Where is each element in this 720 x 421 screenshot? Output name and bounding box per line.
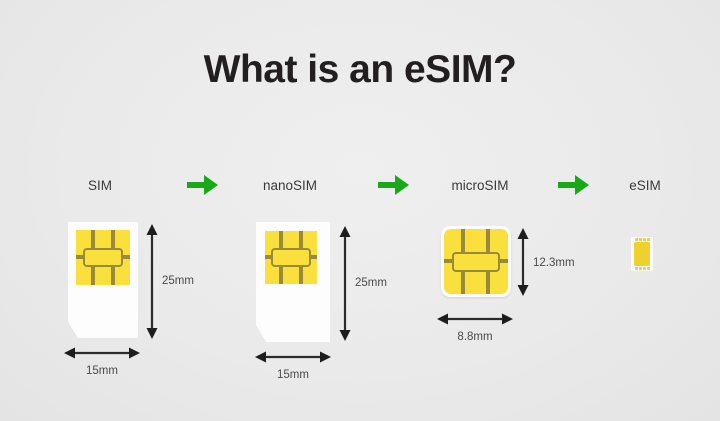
chip-center-pad	[452, 252, 500, 272]
dimension-label-height: 25mm	[162, 274, 194, 288]
arrow-right-icon	[557, 172, 591, 198]
step-label-sim: SIM	[60, 178, 140, 194]
esim-pad	[635, 238, 638, 241]
esim-pad	[643, 238, 646, 241]
esim-pad	[647, 267, 650, 270]
sim-chip	[444, 229, 508, 294]
dimension-arrow-vertical	[516, 228, 530, 296]
esim-chip-body	[634, 242, 650, 266]
esim-embedded-chip	[631, 237, 653, 271]
step-label-nanosim: nanoSIM	[240, 178, 340, 194]
sim-card-nano	[256, 222, 330, 342]
chip-stub	[122, 255, 130, 259]
dimension-label-height: 25mm	[355, 276, 387, 290]
dimension-arrow-horizontal	[64, 346, 140, 360]
sim-card-micro	[441, 226, 511, 297]
sim-chip	[76, 230, 130, 285]
dimension-arrow-vertical	[338, 226, 352, 341]
esim-pad	[643, 267, 646, 270]
arrow-right-icon	[377, 172, 411, 198]
esim-pad	[639, 267, 642, 270]
sim-card-full-size	[68, 222, 138, 338]
chip-center-pad	[83, 248, 123, 267]
esim-pad	[647, 238, 650, 241]
esim-infographic: What is an eSIM? SIM nanoSIM microSIM eS…	[0, 0, 720, 421]
dimension-label-width: 15mm	[255, 368, 331, 382]
esim-pad	[639, 238, 642, 241]
dimension-arrow-vertical	[145, 224, 159, 339]
arrow-right-icon	[186, 172, 220, 198]
chip-center-pad	[271, 248, 311, 267]
page-title: What is an eSIM?	[0, 48, 720, 92]
sim-chip	[265, 231, 317, 284]
chip-stub	[499, 259, 508, 263]
dimension-label-height: 12.3mm	[533, 256, 575, 270]
step-label-microsim: microSIM	[425, 178, 535, 194]
step-label-esim: eSIM	[600, 178, 690, 194]
dimension-arrow-horizontal	[255, 350, 331, 364]
dimension-arrow-horizontal	[437, 312, 513, 326]
dimension-label-width: 15mm	[64, 364, 140, 378]
dimension-label-width: 8.8mm	[437, 330, 513, 344]
esim-pad	[635, 267, 638, 270]
